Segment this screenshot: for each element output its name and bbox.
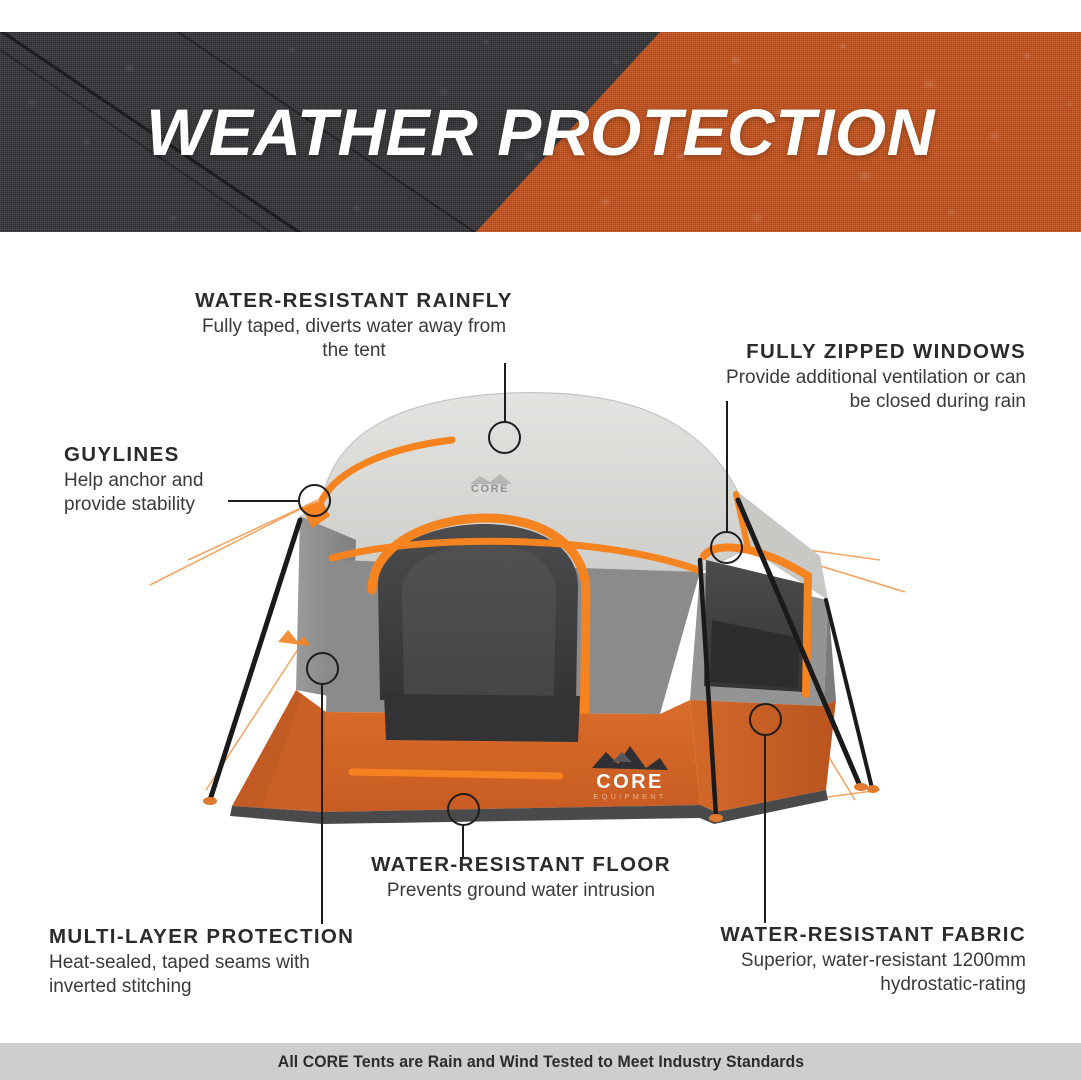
callout-water-resistant-rainfly: WATER-RESISTANT RAINFLY Fully taped, div…: [176, 288, 532, 364]
marker-floor: [447, 793, 480, 826]
callout-title-rainfly: WATER-RESISTANT RAINFLY: [176, 288, 532, 313]
marker-guylines: [298, 484, 331, 517]
callout-body-floor-line1: Prevents ground water intrusion: [322, 879, 720, 903]
marker-windows: [710, 531, 743, 564]
brand-name: CORE: [596, 771, 663, 793]
callout-body-multilayer-line2: inverted stitching: [49, 975, 409, 999]
door-lower-zip: [352, 772, 560, 776]
leader-line-rainfly: [504, 363, 506, 423]
callout-body-fabric-line1: Superior, water-resistant 1200mm: [664, 949, 1026, 973]
callout-guylines: GUYLINES Help anchor and provide stabili…: [64, 442, 284, 518]
infographic-canvas: WEATHER PROTECTION: [0, 0, 1081, 1080]
callout-body-multilayer-line1: Heat-sealed, taped seams with: [49, 951, 409, 975]
callout-body-fabric-line2: hydrostatic-rating: [664, 973, 1026, 997]
callout-water-resistant-floor: WATER-RESISTANT FLOOR Prevents ground wa…: [322, 852, 720, 903]
marker-fabric: [749, 703, 782, 736]
callout-water-resistant-fabric: WATER-RESISTANT FABRIC Superior, water-r…: [664, 922, 1026, 998]
tent-illustration: CORE: [0, 0, 1081, 1080]
callout-title-multilayer: MULTI-LAYER PROTECTION: [49, 924, 409, 949]
leader-line-fabric: [764, 735, 766, 923]
callout-body-windows-line2: be closed during rain: [660, 390, 1026, 414]
callout-body-rainfly-line1: Fully taped, diverts water away from: [176, 315, 532, 339]
callout-body-rainfly-line2: the tent: [176, 339, 532, 363]
marker-rainfly: [488, 421, 521, 454]
callout-title-floor: WATER-RESISTANT FLOOR: [322, 852, 720, 877]
callout-title-guylines: GUYLINES: [64, 442, 284, 467]
brand-subtitle: EQUIPMENT: [593, 792, 666, 801]
leader-line-windows: [726, 401, 728, 533]
front-window-inner-shade: [402, 544, 556, 698]
callout-multi-layer-protection: MULTI-LAYER PROTECTION Heat-sealed, tape…: [49, 924, 409, 1000]
callout-body-guylines-line1: Help anchor and: [64, 469, 284, 493]
svg-text:CORE: CORE: [471, 483, 509, 495]
callout-body-windows-line1: Provide additional ventilation or can: [660, 366, 1026, 390]
callout-title-windows: FULLY ZIPPED WINDOWS: [660, 339, 1026, 364]
callout-fully-zipped-windows: FULLY ZIPPED WINDOWS Provide additional …: [660, 339, 1026, 415]
callout-body-guylines-line2: provide stability: [64, 493, 284, 517]
marker-multi-layer: [306, 652, 339, 685]
footer-text: All CORE Tents are Rain and Wind Tested …: [277, 1052, 803, 1072]
callout-title-fabric: WATER-RESISTANT FABRIC: [664, 922, 1026, 947]
footer-bar: All CORE Tents are Rain and Wind Tested …: [0, 1043, 1081, 1080]
